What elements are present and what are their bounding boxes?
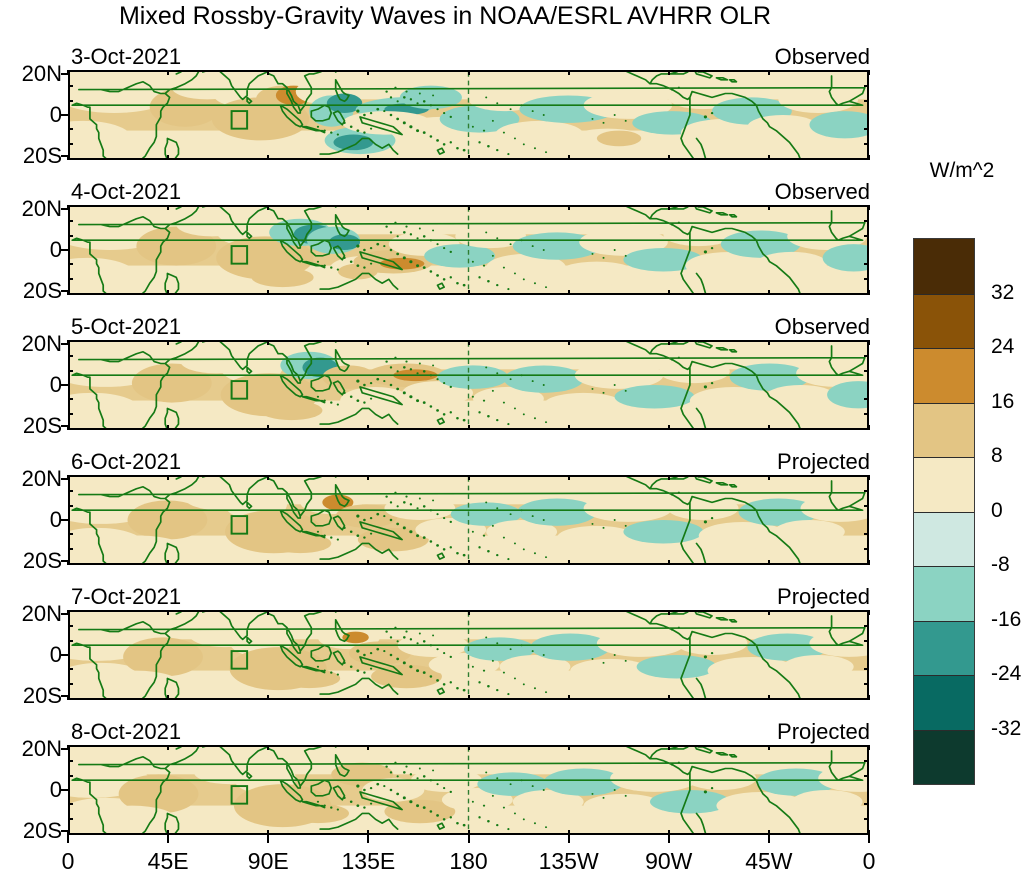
x-tick-mark: [768, 745, 770, 750]
y-minor-tick: [864, 100, 869, 102]
x-tick-mark: [668, 425, 670, 430]
y-tick-label: 0: [0, 239, 62, 261]
x-tick-mark: [668, 475, 670, 480]
figure-title: Mixed Rossby-Gravity Waves in NOAA/ESRL …: [0, 2, 890, 31]
x-tick-mark: [868, 70, 870, 75]
y-minor-tick: [68, 235, 73, 237]
colorbar-band-divider: [914, 566, 974, 567]
map-panel-3: [68, 340, 869, 430]
y-minor-tick: [68, 100, 73, 102]
x-tick-mark: [668, 695, 670, 700]
y-minor-tick: [864, 548, 869, 550]
x-tick-mark: [868, 290, 870, 295]
colorbar-band: [914, 239, 974, 294]
x-tick-mark: [167, 70, 169, 75]
y-minor-tick: [68, 760, 73, 762]
y-tick-mark: [61, 789, 69, 791]
y-tick-mark: [61, 519, 69, 521]
colorbar-tick-label: -8: [991, 554, 1010, 575]
x-tick-mark: [67, 340, 69, 345]
panel-status-label: Observed: [0, 181, 870, 203]
x-tick-mark: [267, 610, 269, 615]
x-tick-mark: [167, 745, 169, 750]
x-tick-mark: [267, 70, 269, 75]
x-tick-mark: [167, 695, 169, 700]
x-tick-mark: [768, 205, 770, 210]
x-tick-mark: [67, 290, 69, 295]
x-tick-label: 135W: [539, 850, 599, 873]
x-tick-mark: [568, 695, 570, 700]
x-tick-mark: [868, 695, 870, 700]
y-minor-tick: [864, 775, 869, 777]
x-axis-tick-mark: [67, 835, 69, 843]
panel-frame: [68, 205, 869, 295]
x-tick-mark: [267, 340, 269, 345]
x-tick-label: 90W: [645, 850, 692, 873]
x-tick-mark: [868, 425, 870, 430]
colorbar-tick-label: 16: [991, 391, 1014, 412]
y-minor-tick: [864, 683, 869, 685]
y-tick-label: 20N: [0, 198, 62, 220]
colorbar-band-divider: [914, 512, 974, 513]
y-tick-label: 0: [0, 509, 62, 531]
olr-anomaly-map: [70, 612, 867, 698]
x-tick-mark: [468, 425, 470, 430]
y-tick-mark: [61, 249, 69, 251]
colorbar-band-divider: [914, 348, 974, 349]
x-axis-tick-mark: [167, 835, 169, 843]
x-tick-mark: [167, 425, 169, 430]
x-tick-label: 45E: [148, 850, 189, 873]
y-minor-tick: [864, 85, 869, 87]
x-tick-mark: [367, 290, 369, 295]
x-axis-tick-mark: [267, 835, 269, 843]
y-minor-tick: [68, 398, 73, 400]
x-tick-mark: [768, 340, 770, 345]
x-tick-mark: [868, 745, 870, 750]
colorbar-tick-label: 0: [991, 500, 1003, 521]
colorbar-band: [914, 621, 974, 676]
x-tick-mark: [267, 290, 269, 295]
x-tick-mark: [67, 695, 69, 700]
x-tick-mark: [267, 425, 269, 430]
x-tick-mark: [768, 610, 770, 615]
olr-anomaly-map: [70, 747, 867, 833]
colorbar-band-divider: [914, 294, 974, 295]
colorbar-unit-label: W/m^2: [903, 160, 1021, 181]
colorbar-tick-label: -32: [991, 718, 1021, 739]
colorbar-band: [914, 512, 974, 567]
x-tick-mark: [868, 610, 870, 615]
x-tick-mark: [668, 155, 670, 160]
y-tick-label: 0: [0, 104, 62, 126]
y-minor-tick: [864, 760, 869, 762]
x-tick-mark: [768, 70, 770, 75]
x-tick-mark: [568, 475, 570, 480]
y-minor-tick: [864, 533, 869, 535]
x-tick-mark: [167, 290, 169, 295]
x-tick-mark: [67, 610, 69, 615]
x-tick-mark: [367, 70, 369, 75]
x-tick-mark: [167, 155, 169, 160]
y-minor-tick: [68, 370, 73, 372]
y-tick-label: 20S: [0, 685, 62, 707]
x-tick-mark: [67, 70, 69, 75]
x-tick-mark: [167, 340, 169, 345]
y-minor-tick: [864, 143, 869, 145]
y-minor-tick: [68, 85, 73, 87]
colorbar-band-divider: [914, 675, 974, 676]
x-tick-mark: [367, 745, 369, 750]
panel-status-label: Projected: [0, 721, 870, 743]
x-axis-tick-mark: [868, 835, 870, 843]
x-tick-label: 135E: [342, 850, 396, 873]
y-minor-tick: [68, 263, 73, 265]
x-tick-mark: [167, 610, 169, 615]
x-tick-mark: [167, 475, 169, 480]
y-minor-tick: [68, 625, 73, 627]
y-minor-tick: [864, 398, 869, 400]
colorbar-tick-label: 24: [991, 336, 1014, 357]
x-axis-tick-mark: [367, 835, 369, 843]
y-tick-mark: [61, 114, 69, 116]
panel-frame: [68, 70, 869, 160]
x-tick-mark: [568, 745, 570, 750]
colorbar-tick-label: 32: [991, 282, 1014, 303]
colorbar-band: [914, 294, 974, 349]
olr-anomaly-map: [70, 477, 867, 563]
x-tick-label: 0: [863, 850, 876, 873]
y-minor-tick: [864, 370, 869, 372]
x-axis-tick-mark: [568, 835, 570, 843]
y-minor-tick: [864, 818, 869, 820]
y-minor-tick: [68, 128, 73, 130]
x-tick-mark: [367, 340, 369, 345]
y-minor-tick: [864, 278, 869, 280]
y-minor-tick: [864, 640, 869, 642]
x-tick-mark: [367, 560, 369, 565]
x-tick-mark: [267, 745, 269, 750]
colorbar-band: [914, 730, 974, 785]
x-axis-tick-mark: [768, 835, 770, 843]
x-tick-mark: [468, 475, 470, 480]
y-tick-mark: [61, 384, 69, 386]
x-tick-mark: [267, 205, 269, 210]
x-tick-mark: [267, 560, 269, 565]
map-panel-4: [68, 475, 869, 565]
y-minor-tick: [864, 220, 869, 222]
y-minor-tick: [864, 355, 869, 357]
x-tick-mark: [668, 205, 670, 210]
x-tick-mark: [768, 290, 770, 295]
x-tick-mark: [67, 205, 69, 210]
y-tick-label: 0: [0, 779, 62, 801]
figure-root: Mixed Rossby-Gravity Waves in NOAA/ESRL …: [0, 0, 1021, 890]
x-tick-mark: [468, 695, 470, 700]
x-tick-mark: [668, 745, 670, 750]
y-minor-tick: [68, 278, 73, 280]
y-tick-label: 20N: [0, 738, 62, 760]
y-minor-tick: [68, 548, 73, 550]
y-minor-tick: [68, 533, 73, 535]
y-minor-tick: [864, 668, 869, 670]
x-tick-mark: [367, 695, 369, 700]
x-tick-label: 180: [449, 850, 487, 873]
y-tick-label: 20N: [0, 468, 62, 490]
x-tick-mark: [468, 610, 470, 615]
x-tick-mark: [668, 290, 670, 295]
x-tick-mark: [468, 155, 470, 160]
panel-frame: [68, 475, 869, 565]
x-tick-mark: [367, 425, 369, 430]
x-tick-mark: [868, 155, 870, 160]
panel-frame: [68, 745, 869, 835]
colorbar-band: [914, 675, 974, 730]
x-tick-mark: [267, 155, 269, 160]
x-axis-tick-mark: [668, 835, 670, 843]
x-tick-mark: [367, 155, 369, 160]
x-tick-mark: [868, 205, 870, 210]
y-minor-tick: [68, 668, 73, 670]
x-tick-mark: [167, 560, 169, 565]
x-tick-mark: [468, 340, 470, 345]
x-tick-mark: [568, 610, 570, 615]
x-tick-mark: [768, 155, 770, 160]
x-tick-mark: [468, 70, 470, 75]
x-tick-mark: [668, 70, 670, 75]
x-tick-mark: [868, 560, 870, 565]
x-tick-mark: [568, 70, 570, 75]
y-minor-tick: [68, 413, 73, 415]
colorbar-tick-label: -24: [991, 663, 1021, 684]
y-tick-label: 20S: [0, 550, 62, 572]
colorbar-band-divider: [914, 403, 974, 404]
map-panel-2: [68, 205, 869, 295]
x-tick-mark: [568, 560, 570, 565]
colorbar-scale: [913, 238, 975, 785]
y-tick-label: 20S: [0, 145, 62, 167]
x-tick-mark: [468, 290, 470, 295]
panel-status-label: Projected: [0, 451, 870, 473]
y-tick-label: 20N: [0, 603, 62, 625]
colorbar-band: [914, 457, 974, 512]
x-tick-mark: [267, 475, 269, 480]
x-tick-mark: [668, 340, 670, 345]
x-tick-mark: [167, 205, 169, 210]
colorbar-band-divider: [914, 457, 974, 458]
y-minor-tick: [68, 775, 73, 777]
olr-anomaly-map: [70, 207, 867, 293]
panel-status-label: Observed: [0, 46, 870, 68]
x-tick-mark: [668, 610, 670, 615]
map-panel-5: [68, 610, 869, 700]
y-tick-label: 20N: [0, 63, 62, 85]
panel-status-label: Observed: [0, 316, 870, 338]
y-minor-tick: [864, 490, 869, 492]
colorbar-tick-label: -16: [991, 609, 1021, 630]
y-minor-tick: [68, 803, 73, 805]
y-tick-mark: [61, 654, 69, 656]
map-panel-1: [68, 70, 869, 160]
y-minor-tick: [864, 413, 869, 415]
olr-anomaly-map: [70, 72, 867, 158]
x-tick-mark: [267, 695, 269, 700]
x-tick-mark: [768, 475, 770, 480]
y-minor-tick: [68, 818, 73, 820]
x-tick-mark: [367, 610, 369, 615]
y-minor-tick: [864, 263, 869, 265]
x-tick-mark: [568, 205, 570, 210]
colorbar-tick-label: 8: [991, 445, 1003, 466]
x-axis-tick-mark: [468, 835, 470, 843]
panel-frame: [68, 340, 869, 430]
colorbar-band: [914, 348, 974, 403]
x-tick-mark: [367, 205, 369, 210]
x-tick-mark: [67, 425, 69, 430]
y-tick-label: 0: [0, 374, 62, 396]
y-tick-label: 0: [0, 644, 62, 666]
x-tick-mark: [67, 745, 69, 750]
x-tick-mark: [67, 560, 69, 565]
x-tick-mark: [568, 425, 570, 430]
y-minor-tick: [864, 625, 869, 627]
x-tick-mark: [568, 155, 570, 160]
y-minor-tick: [68, 355, 73, 357]
y-minor-tick: [864, 505, 869, 507]
x-tick-mark: [67, 155, 69, 160]
x-tick-mark: [768, 425, 770, 430]
y-minor-tick: [68, 220, 73, 222]
x-tick-mark: [868, 340, 870, 345]
x-tick-label: 45W: [745, 850, 792, 873]
olr-anomaly-map: [70, 342, 867, 428]
x-tick-mark: [67, 475, 69, 480]
colorbar-band-divider: [914, 730, 974, 731]
x-tick-mark: [468, 205, 470, 210]
colorbar-band-divider: [914, 621, 974, 622]
x-tick-mark: [568, 340, 570, 345]
y-minor-tick: [864, 128, 869, 130]
x-tick-mark: [668, 560, 670, 565]
x-tick-label: 0: [62, 850, 75, 873]
y-tick-label: 20N: [0, 333, 62, 355]
y-minor-tick: [864, 803, 869, 805]
colorbar-band: [914, 566, 974, 621]
panel-frame: [68, 610, 869, 700]
x-tick-mark: [367, 475, 369, 480]
y-minor-tick: [68, 683, 73, 685]
y-minor-tick: [68, 640, 73, 642]
x-tick-mark: [768, 695, 770, 700]
x-tick-mark: [468, 560, 470, 565]
map-panel-6: [68, 745, 869, 835]
y-tick-label: 20S: [0, 820, 62, 842]
x-tick-mark: [468, 745, 470, 750]
x-tick-label: 90E: [248, 850, 289, 873]
panel-status-label: Projected: [0, 586, 870, 608]
y-minor-tick: [68, 505, 73, 507]
x-tick-mark: [868, 475, 870, 480]
colorbar-band: [914, 403, 974, 458]
x-tick-mark: [568, 290, 570, 295]
y-minor-tick: [864, 235, 869, 237]
y-minor-tick: [68, 143, 73, 145]
y-minor-tick: [68, 490, 73, 492]
y-tick-label: 20S: [0, 415, 62, 437]
x-tick-mark: [768, 560, 770, 565]
y-tick-label: 20S: [0, 280, 62, 302]
